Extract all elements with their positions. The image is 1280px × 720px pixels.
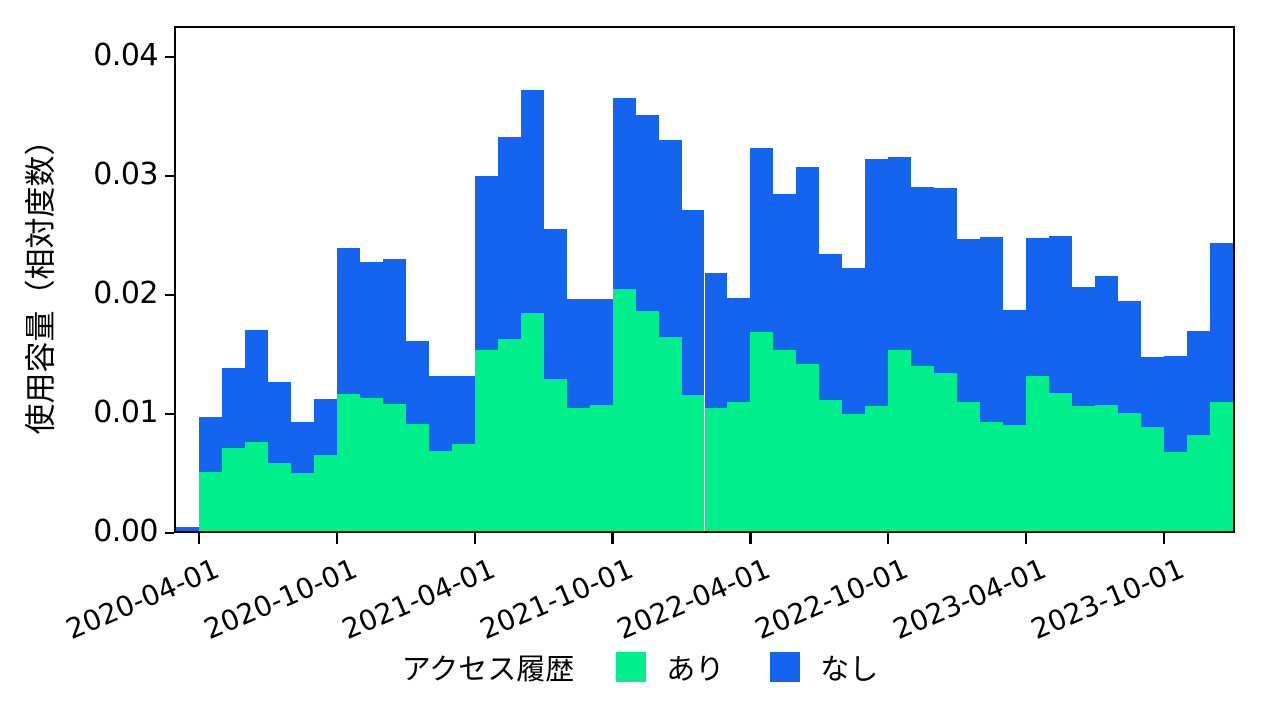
bar-segment-nashi <box>429 376 452 451</box>
x-tick-mark <box>336 533 338 544</box>
bar <box>934 188 957 531</box>
bar-segment-nashi <box>1003 310 1026 425</box>
bar <box>1164 356 1187 531</box>
bar <box>613 98 636 531</box>
bar-segment-ari <box>659 337 682 531</box>
legend: アクセス履歴 ありなし <box>0 640 1280 694</box>
y-tick-mark <box>165 56 174 58</box>
bar-segment-ari <box>1095 405 1118 531</box>
bar-segment-nashi <box>475 176 498 350</box>
bar-segment-ari <box>567 408 590 531</box>
bar-segment-ari <box>934 373 957 531</box>
bar-segment-ari <box>521 313 544 531</box>
legend-item[interactable]: なし <box>770 646 878 688</box>
bar-segment-nashi <box>498 137 521 339</box>
bar <box>1141 357 1164 531</box>
bar-segment-nashi <box>521 90 544 314</box>
bar-segment-nashi <box>268 382 291 463</box>
bar <box>819 254 842 531</box>
bar <box>291 422 314 531</box>
bar-segment-nashi <box>957 239 980 402</box>
bar <box>980 237 1003 531</box>
bar-segment-nashi <box>934 188 957 372</box>
bar-segment-ari <box>682 395 705 531</box>
bar-segment-nashi <box>1164 356 1187 452</box>
bar-segment-ari <box>796 364 819 531</box>
bar-segment-nashi <box>176 527 199 531</box>
bar <box>314 399 337 531</box>
bar <box>888 157 911 531</box>
bar <box>429 376 452 531</box>
bar-segment-nashi <box>452 376 475 444</box>
bar-segment-nashi <box>314 399 337 455</box>
bar <box>1187 331 1210 531</box>
bar-segment-ari <box>245 442 268 531</box>
bar-segment-ari <box>291 473 314 531</box>
bar-segment-ari <box>498 339 521 531</box>
bar-segment-ari <box>383 404 406 531</box>
bar <box>1118 301 1141 531</box>
bar <box>360 262 383 531</box>
bar-segment-ari <box>406 424 429 531</box>
x-tick-mark <box>198 533 200 544</box>
bar-segment-nashi <box>337 248 360 394</box>
bar-segment-nashi <box>245 330 268 442</box>
legend-swatch-icon <box>616 652 646 682</box>
bar <box>727 298 750 531</box>
bar-segment-nashi <box>865 159 888 407</box>
bar-segment-nashi <box>199 417 222 472</box>
bar-segment-ari <box>429 451 452 531</box>
bar <box>521 90 544 531</box>
bar <box>475 176 498 531</box>
bar-segment-nashi <box>773 194 796 350</box>
bar <box>1049 236 1072 531</box>
bar-segment-ari <box>452 444 475 531</box>
bar-segment-ari <box>1210 402 1233 531</box>
bar-segment-nashi <box>888 157 911 350</box>
bar-segment-ari <box>1141 427 1164 531</box>
x-tick-mark <box>474 533 476 544</box>
legend-item-label: なし <box>820 646 878 688</box>
bar <box>406 341 429 531</box>
bar-segment-ari <box>957 402 980 531</box>
bar <box>383 259 406 532</box>
bar-segment-nashi <box>796 167 819 365</box>
bar-segment-ari <box>1118 413 1141 531</box>
y-tick-mark <box>165 532 174 534</box>
bar-segment-nashi <box>291 422 314 473</box>
bar-segment-nashi <box>911 187 934 366</box>
bar-segment-nashi <box>1026 238 1049 376</box>
bar <box>911 187 934 531</box>
bar-segment-nashi <box>613 98 636 290</box>
bar <box>705 273 728 531</box>
bar-segment-ari <box>727 402 750 531</box>
bar <box>268 382 291 531</box>
bar-segment-ari <box>314 455 337 531</box>
bar-segment-ari <box>337 394 360 531</box>
bars-layer <box>176 28 1233 531</box>
bar <box>222 368 245 531</box>
y-axis-label: 使用容量（相対度数） <box>16 60 61 500</box>
bar-segment-ari <box>1187 435 1210 531</box>
x-tick-mark <box>749 533 751 544</box>
bar-segment-ari <box>980 422 1003 531</box>
legend-item-label: あり <box>666 646 724 688</box>
bar-segment-ari <box>1072 406 1095 531</box>
bar <box>659 140 682 532</box>
bar <box>567 299 590 531</box>
bar-segment-nashi <box>590 299 613 405</box>
bar-segment-nashi <box>360 262 383 398</box>
bar <box>773 194 796 531</box>
y-tick-label: 0.01 <box>93 398 158 428</box>
legend-title: アクセス履歴 <box>402 646 575 688</box>
bar-segment-nashi <box>383 259 406 404</box>
bar <box>750 148 773 531</box>
bar-segment-nashi <box>544 229 567 379</box>
bar <box>957 239 980 531</box>
x-tick-mark <box>611 533 613 544</box>
x-tick-mark <box>1025 533 1027 544</box>
bar <box>498 137 521 531</box>
bar-segment-ari <box>613 289 636 531</box>
bar-segment-nashi <box>980 237 1003 421</box>
y-tick-mark <box>165 294 174 296</box>
bar-segment-nashi <box>1095 276 1118 405</box>
bar-segment-nashi <box>842 268 865 414</box>
bar <box>1003 310 1026 531</box>
bar-segment-ari <box>773 350 796 531</box>
y-tick-mark <box>165 175 174 177</box>
legend-items: ありなし <box>616 646 878 688</box>
x-tick-mark <box>1163 533 1165 544</box>
bar-segment-nashi <box>567 299 590 408</box>
bar <box>636 115 659 532</box>
bar-segment-ari <box>222 448 245 531</box>
bar <box>337 248 360 531</box>
bar <box>1210 243 1233 531</box>
legend-swatch-icon <box>770 652 800 682</box>
bar <box>796 167 819 531</box>
bar-segment-nashi <box>1187 331 1210 435</box>
bar <box>452 376 475 531</box>
bar <box>176 527 199 531</box>
bar <box>865 159 888 531</box>
bar-segment-ari <box>819 400 842 531</box>
y-tick-label: 0.02 <box>93 279 158 309</box>
bar <box>199 417 222 531</box>
bar-segment-ari <box>1164 452 1187 531</box>
bar <box>544 229 567 531</box>
y-tick-label: 0.04 <box>93 41 158 71</box>
bar-segment-nashi <box>1118 301 1141 413</box>
bar-segment-ari <box>544 379 567 531</box>
bar-segment-ari <box>590 405 613 531</box>
bar-segment-ari <box>1003 425 1026 531</box>
bar <box>1072 287 1095 531</box>
bar-segment-nashi <box>659 140 682 338</box>
bar-segment-nashi <box>1072 287 1095 406</box>
bar <box>590 299 613 531</box>
bar-segment-ari <box>750 332 773 531</box>
bar-segment-nashi <box>406 341 429 424</box>
x-tick-mark <box>887 533 889 544</box>
y-tick-mark <box>165 413 174 415</box>
bar-segment-ari <box>360 398 383 531</box>
bar-segment-ari <box>1026 376 1049 531</box>
chart-root: 使用容量（相対度数） 0.000.010.020.030.04 2020-04-… <box>0 0 1280 720</box>
bar <box>245 330 268 531</box>
bar-segment-nashi <box>819 254 842 400</box>
bar-segment-ari <box>911 366 934 531</box>
bar-segment-ari <box>705 408 728 531</box>
bar-segment-nashi <box>1141 357 1164 427</box>
bar-segment-ari <box>475 350 498 531</box>
bar-segment-nashi <box>682 210 705 396</box>
bar-segment-ari <box>199 472 222 532</box>
bar <box>1026 238 1049 531</box>
bar-segment-nashi <box>1210 243 1233 402</box>
bar-segment-ari <box>888 350 911 531</box>
bar-segment-ari <box>865 406 888 531</box>
bar-segment-ari <box>1049 393 1072 531</box>
y-tick-label: 0.03 <box>93 160 158 190</box>
bar-segment-nashi <box>222 368 245 448</box>
bar-segment-ari <box>636 311 659 531</box>
bar-segment-ari <box>842 414 865 531</box>
bar-segment-nashi <box>750 148 773 332</box>
bar <box>1095 276 1118 531</box>
bar <box>682 210 705 531</box>
y-tick-label: 0.00 <box>93 517 158 547</box>
bar <box>842 268 865 531</box>
bar-segment-nashi <box>705 273 728 409</box>
bar-segment-ari <box>268 463 291 531</box>
legend-item[interactable]: あり <box>616 646 724 688</box>
bar-segment-nashi <box>636 115 659 311</box>
bar-segment-nashi <box>727 298 750 403</box>
bar-segment-nashi <box>1049 236 1072 393</box>
